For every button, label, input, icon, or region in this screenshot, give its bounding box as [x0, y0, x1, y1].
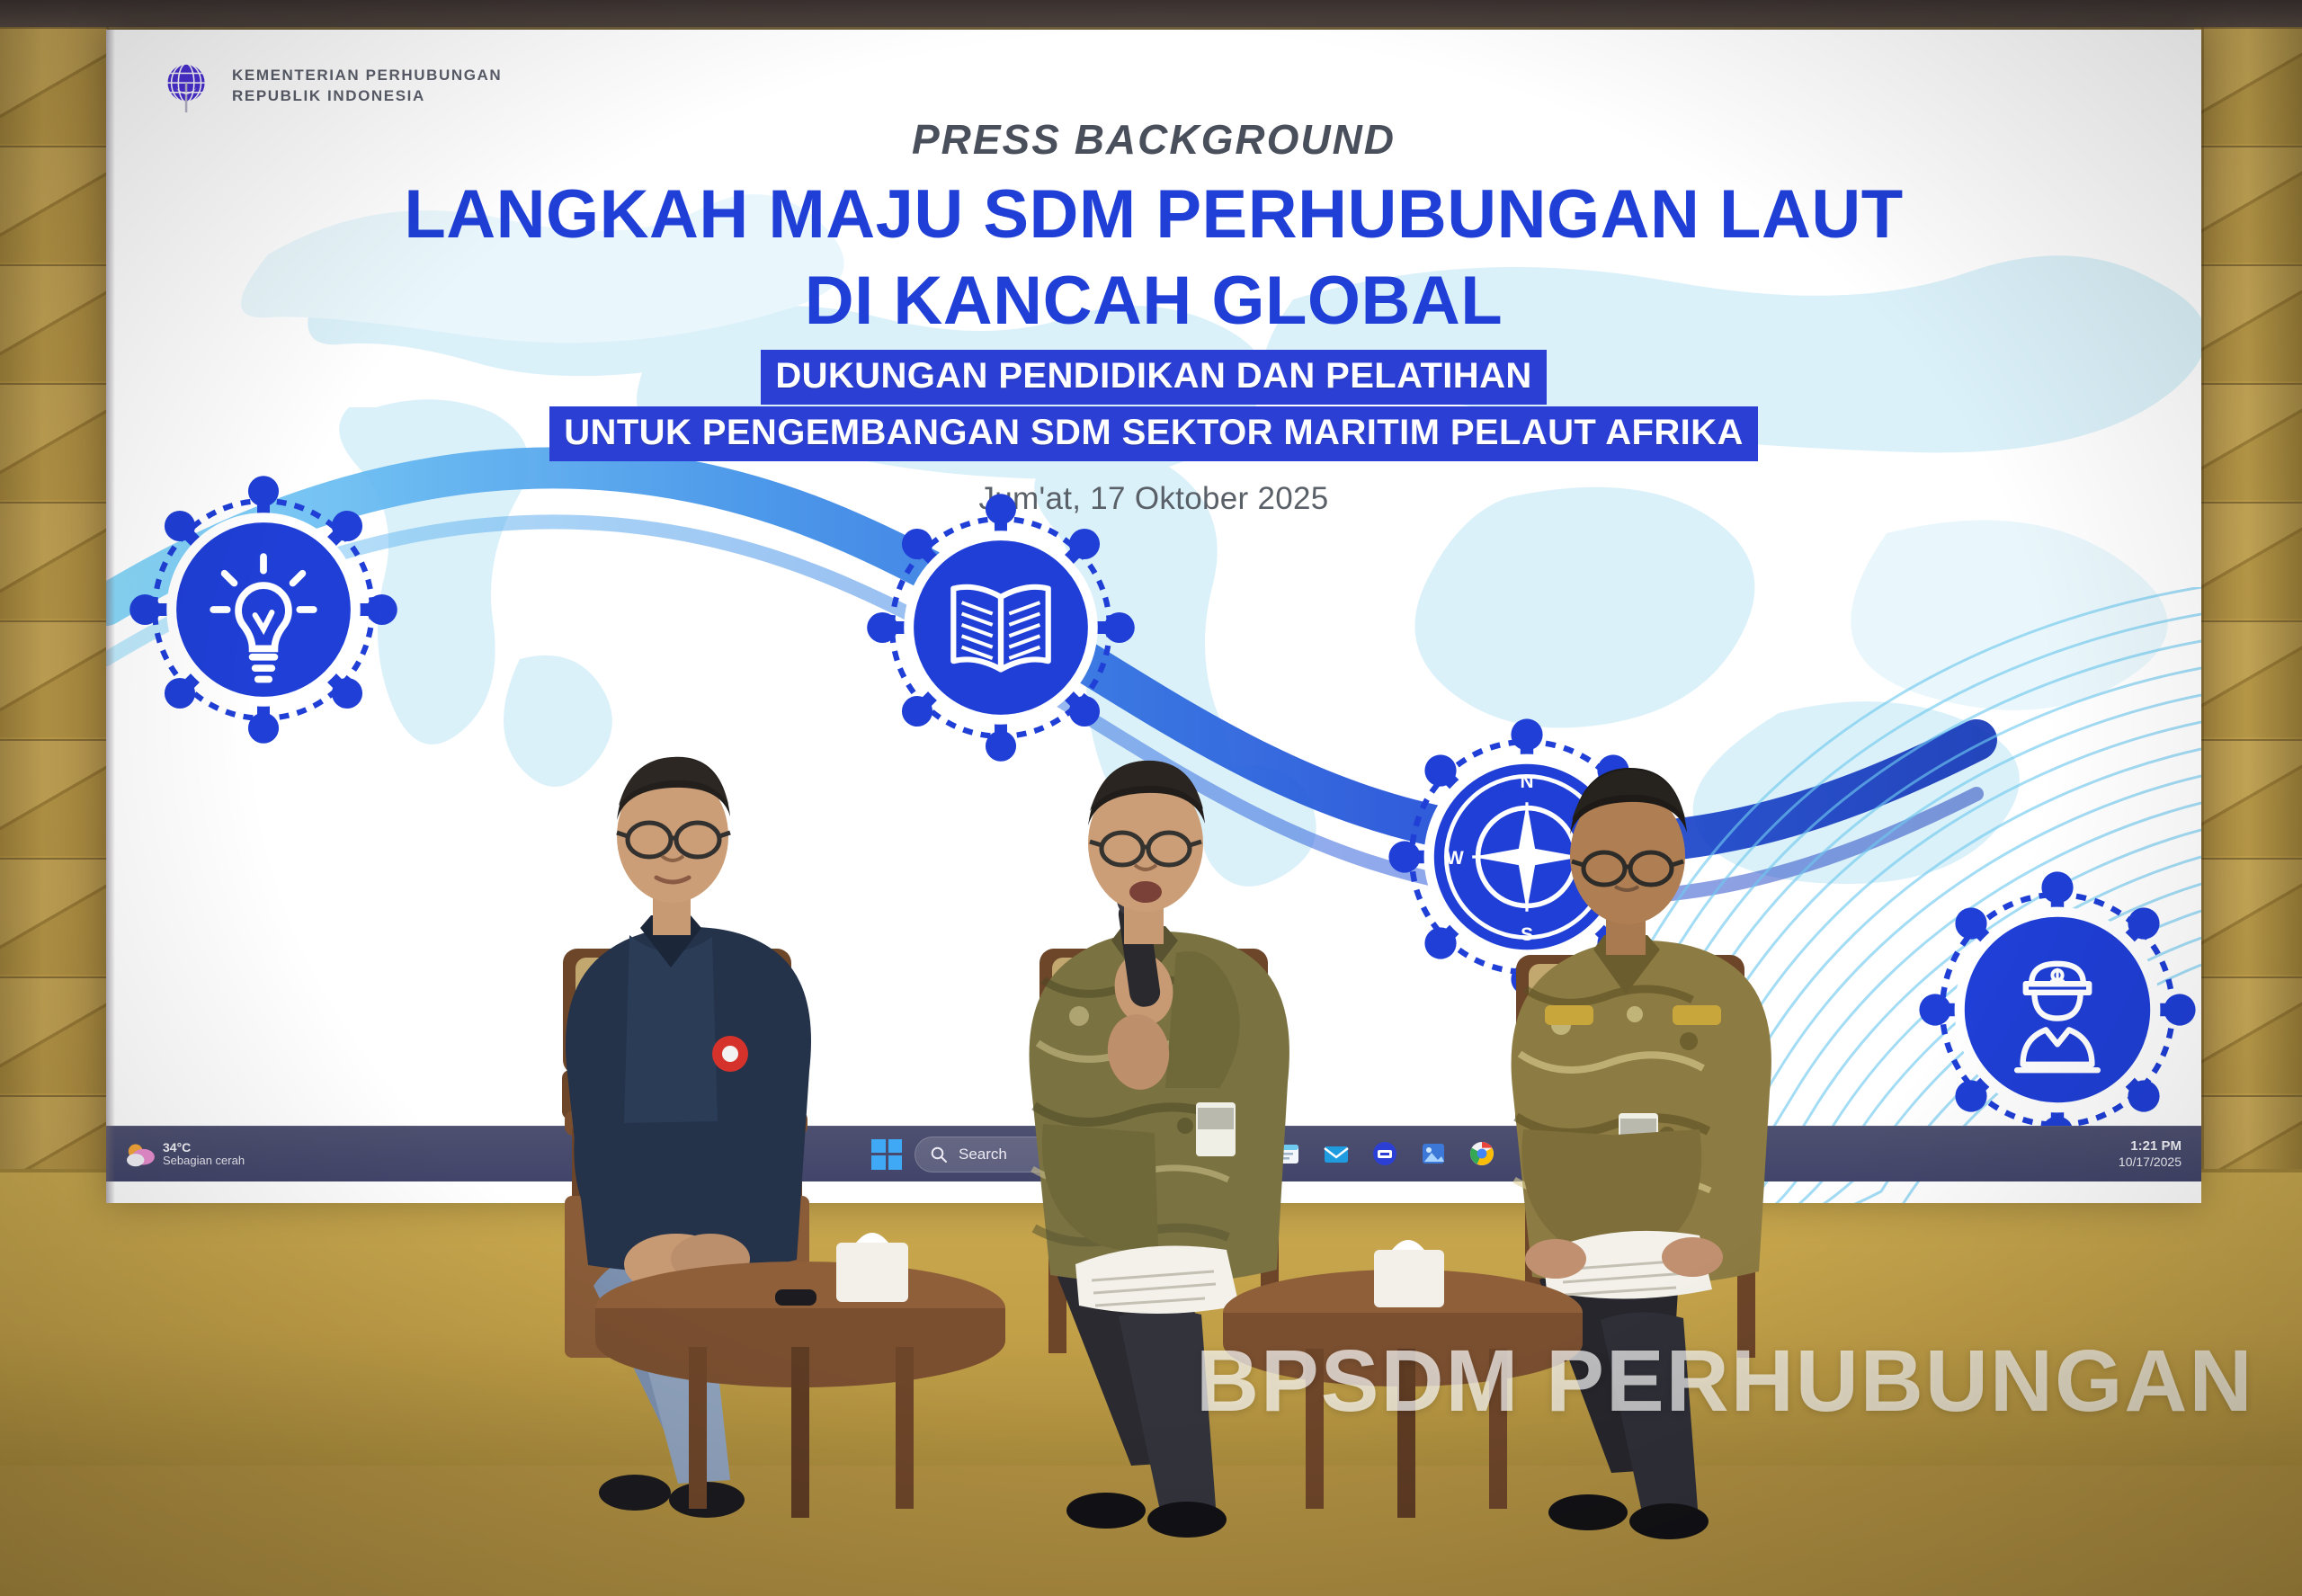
speaker-left	[566, 757, 811, 1518]
tissue-box	[836, 1243, 908, 1302]
screenshot-root: KEMENTERIAN PERHUBUNGAN REPUBLIK INDONES…	[0, 0, 2302, 1596]
watermark-text: BPSDM PERHUBUNGAN	[1196, 1331, 2254, 1431]
tissue-box	[1374, 1250, 1444, 1307]
